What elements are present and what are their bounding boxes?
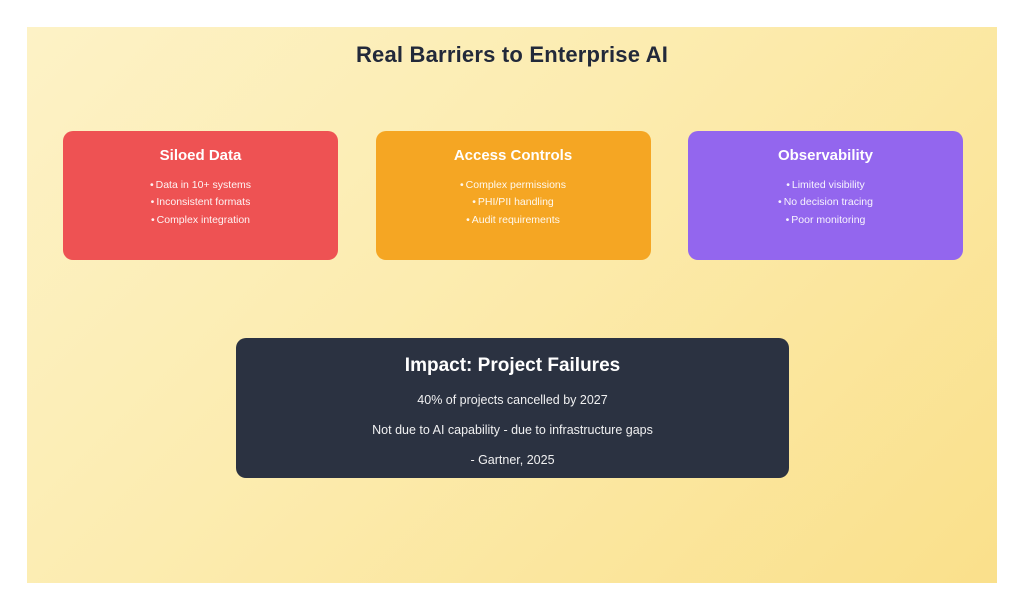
barrier-card-title: Access Controls xyxy=(454,148,572,165)
barrier-point-label: Poor monitoring xyxy=(791,214,865,226)
barrier-point-label: Complex permissions xyxy=(466,179,566,191)
barrier-card-title: Observability xyxy=(778,148,873,165)
barrier-point-label: PHI/PII handling xyxy=(478,196,554,208)
barrier-card-points: •Complex permissions •PHI/PII handling •… xyxy=(390,177,637,230)
bullet-icon: • xyxy=(150,177,154,195)
barrier-point-label: Complex integration xyxy=(157,214,250,226)
barrier-cards-row: Siloed Data •Data in 10+ systems •Incons… xyxy=(63,131,963,260)
barrier-card-observability[interactable]: Observability •Limited visibility •No de… xyxy=(688,131,963,260)
barrier-point-label: Data in 10+ systems xyxy=(156,179,251,191)
barrier-card-access-controls[interactable]: Access Controls •Complex permissions •PH… xyxy=(376,131,651,260)
barrier-point: •No decision tracing xyxy=(702,194,949,212)
impact-attribution: - Gartner, 2025 xyxy=(256,453,769,467)
barrier-card-title: Siloed Data xyxy=(160,148,242,165)
barrier-point: •PHI/PII handling xyxy=(390,194,637,212)
barrier-point-label: Inconsistent formats xyxy=(156,196,250,208)
barrier-point: •Complex permissions xyxy=(390,177,637,195)
bullet-icon: • xyxy=(460,177,464,195)
bullet-icon: • xyxy=(151,194,155,212)
barrier-point: •Poor monitoring xyxy=(702,212,949,230)
barrier-point: •Limited visibility xyxy=(702,177,949,195)
impact-stat-line: 40% of projects cancelled by 2027 xyxy=(256,393,769,407)
barrier-point: •Data in 10+ systems xyxy=(77,177,324,195)
barrier-point: •Inconsistent formats xyxy=(77,194,324,212)
barrier-point: •Audit requirements xyxy=(390,212,637,230)
barrier-card-points: •Limited visibility •No decision tracing… xyxy=(702,177,949,230)
barrier-point-label: Limited visibility xyxy=(792,179,865,191)
impact-panel-title: Impact: Project Failures xyxy=(256,355,769,377)
bullet-icon: • xyxy=(472,194,476,212)
barrier-point: •Complex integration xyxy=(77,212,324,230)
page-title: Real Barriers to Enterprise AI xyxy=(27,42,997,68)
barrier-point-label: No decision tracing xyxy=(784,196,873,208)
bullet-icon: • xyxy=(786,212,790,230)
bullet-icon: • xyxy=(151,212,155,230)
bullet-icon: • xyxy=(466,212,470,230)
bullet-icon: • xyxy=(778,194,782,212)
slide-canvas: Real Barriers to Enterprise AI Siloed Da… xyxy=(27,27,997,583)
barrier-point-label: Audit requirements xyxy=(472,214,560,226)
impact-panel: Impact: Project Failures 40% of projects… xyxy=(236,338,789,478)
barrier-card-siloed-data[interactable]: Siloed Data •Data in 10+ systems •Incons… xyxy=(63,131,338,260)
impact-detail-line: Not due to AI capability - due to infras… xyxy=(256,423,769,437)
bullet-icon: • xyxy=(786,177,790,195)
barrier-card-points: •Data in 10+ systems •Inconsistent forma… xyxy=(77,177,324,230)
